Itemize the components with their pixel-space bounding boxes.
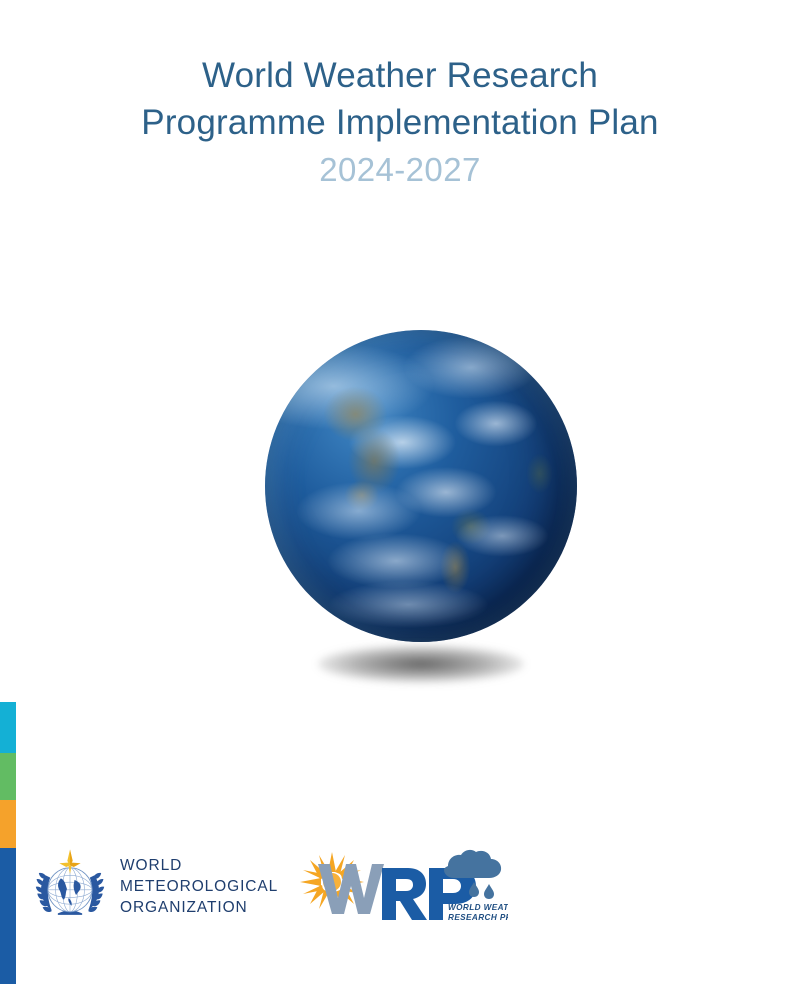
wwrp-logo: WORLD WEATHER RESEARCH PROGRAMME	[296, 848, 508, 924]
color-bar-segment-orange	[0, 800, 16, 848]
wmo-logo: WORLD METEOROLOGICAL ORGANIZATION	[32, 848, 278, 924]
color-bar-segment-cyan	[0, 702, 16, 753]
brand-color-bar	[0, 702, 16, 984]
atmosphere-limb-highlight	[265, 330, 577, 642]
color-bar-segment-blue	[0, 848, 16, 984]
wmo-wordmark-line-3: ORGANIZATION	[120, 897, 278, 918]
rain-cloud-icon	[444, 850, 501, 899]
wmo-wordmark: WORLD METEOROLOGICAL ORGANIZATION	[120, 855, 278, 918]
wmo-emblem-icon	[32, 848, 108, 924]
earth-globe-image	[265, 330, 577, 642]
globe-drop-shadow	[318, 645, 524, 683]
wwrp-tagline-line-1: WORLD WEATHER	[448, 903, 508, 912]
wwrp-letters-ww	[318, 864, 384, 914]
wmo-wordmark-line-2: METEOROLOGICAL	[120, 876, 278, 897]
document-cover-page: World Weather Research Programme Impleme…	[0, 0, 800, 984]
earth-globe-sphere	[265, 330, 577, 642]
wwrp-tagline-line-2: RESEARCH PROGRAMME	[448, 913, 508, 922]
wmo-wordmark-line-1: WORLD	[120, 855, 278, 876]
page-subtitle-period: 2024-2027	[0, 148, 800, 192]
wwrp-logo-icon: WORLD WEATHER RESEARCH PROGRAMME	[296, 848, 508, 924]
page-title-line-1: World Weather Research	[0, 52, 800, 99]
cover-title-block: World Weather Research Programme Impleme…	[0, 52, 800, 192]
color-bar-segment-green	[0, 753, 16, 800]
page-title-line-2: Programme Implementation Plan	[0, 99, 800, 146]
